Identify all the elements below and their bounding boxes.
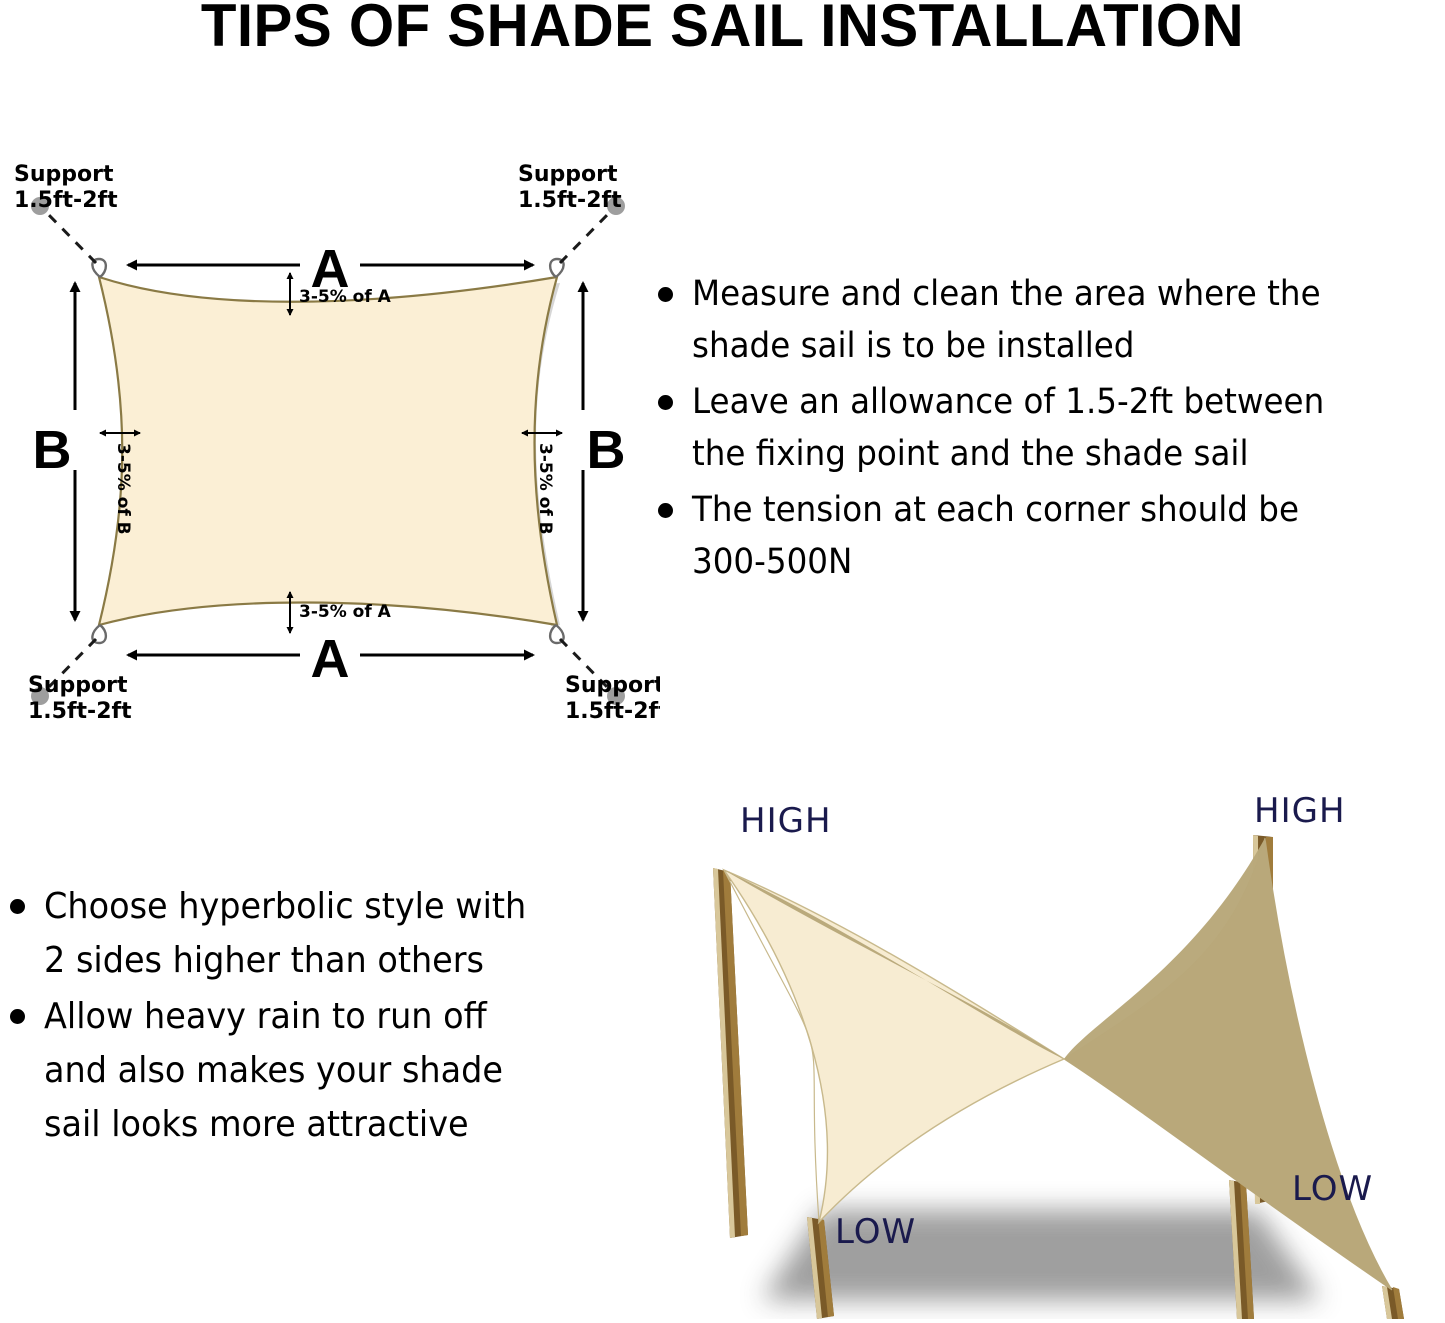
support-label-top-right-line1: Support: [518, 162, 618, 187]
bullet-dot-icon: [10, 899, 25, 914]
tip-text: Allow heavy rain to run off and also mak…: [44, 990, 598, 1152]
sail-front-panel: [724, 870, 1064, 1222]
support-label-bottom-right-line2: 1.5ft-2ft: [565, 699, 660, 724]
bullet-dot-icon: [10, 1009, 25, 1024]
support-label-top-right-line2: 1.5ft-2ft: [518, 188, 622, 213]
dimension-label-a-bottom: A: [311, 629, 350, 689]
bullet-dot-icon: [658, 395, 673, 410]
bullet-dot-icon: [658, 287, 673, 302]
list-item: Allow heavy rain to run off and also mak…: [0, 990, 640, 1152]
curvature-label-b-right: 3-5% of B: [535, 443, 555, 535]
pole-high-left: [713, 868, 748, 1238]
list-item: The tension at each corner should be 300…: [648, 484, 1445, 588]
label-high-left: HIGH: [740, 801, 832, 841]
page-title: TIPS OF SHADE SAIL INSTALLATION: [22, 0, 1424, 56]
tip-text: Leave an allowance of 1.5-2ft between th…: [692, 376, 1395, 480]
tip-text: Measure and clean the area where the sha…: [692, 268, 1395, 372]
list-item: Measure and clean the area where the sha…: [648, 268, 1445, 372]
label-high-right: HIGH: [1254, 791, 1346, 831]
list-item: Leave an allowance of 1.5-2ft between th…: [648, 376, 1445, 480]
support-label-top-left-line2: 1.5ft-2ft: [14, 188, 118, 213]
support-label-bottom-left-line1: Support: [28, 673, 128, 698]
rectangular-sail-diagram: A A B B 3-5% of A 3-5% of A 3-5% of B 3-…: [0, 155, 660, 725]
installation-tips-list-bottom: Choose hyperbolic style with 2 sides hig…: [0, 880, 640, 1154]
shade-sail-shape: [99, 277, 557, 625]
dimension-label-b-right: B: [587, 420, 626, 480]
dimension-label-b-left: B: [33, 420, 72, 480]
curvature-label-b-left: 3-5% of B: [113, 443, 133, 535]
pole-low-right: [1382, 1286, 1404, 1319]
support-label-top-left-line1: Support: [14, 162, 114, 187]
hyperbolic-sail-diagram: HIGH HIGH LOW LOW: [672, 780, 1445, 1319]
support-label-bottom-right-line1: Support: [565, 673, 660, 698]
installation-tips-list-top: Measure and clean the area where the sha…: [648, 268, 1445, 592]
curvature-label-a-bottom: 3-5% of A: [299, 602, 392, 622]
label-low-left: LOW: [835, 1212, 916, 1252]
tip-text: Choose hyperbolic style with 2 sides hig…: [44, 880, 598, 988]
list-item: Choose hyperbolic style with 2 sides hig…: [0, 880, 640, 988]
bullet-dot-icon: [658, 503, 673, 518]
support-label-bottom-left-line2: 1.5ft-2ft: [28, 699, 132, 724]
label-low-right: LOW: [1292, 1169, 1373, 1209]
curvature-label-a-top: 3-5% of A: [299, 287, 392, 307]
tip-text: The tension at each corner should be 300…: [692, 484, 1395, 588]
